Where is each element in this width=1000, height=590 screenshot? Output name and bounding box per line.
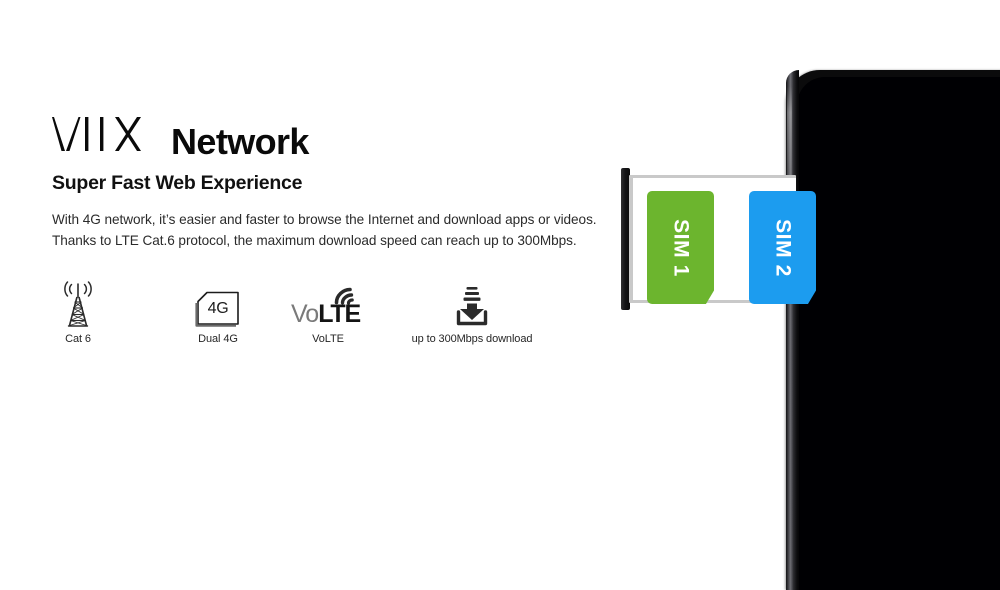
phone-device (786, 70, 1000, 590)
hero-content: Network Super Fast Web Experience With 4… (52, 112, 612, 252)
description-text: With 4G network, it’s easier and faster … (52, 210, 612, 251)
page-subtitle: Super Fast Web Experience (52, 172, 612, 194)
description-line-2: Thanks to LTE Cat.6 protocol, the maximu… (52, 231, 612, 252)
feature-label: Cat 6 (52, 333, 104, 345)
volte-wordmark: VoLTE (291, 302, 360, 327)
feature-item-dual4g: 4G Dual 4G (172, 282, 264, 345)
sim-card-2: SIM 2 (749, 191, 816, 304)
sim-card-2-label: SIM 2 (772, 219, 793, 277)
sim-card-1: SIM 1 (647, 191, 714, 304)
phone-side-edge (786, 70, 799, 590)
feature-item-download: up to 300Mbps download (356, 282, 588, 345)
sim-tray-inner: SIM 1 SIM 2 (633, 178, 796, 300)
volte-prefix: Vo (291, 300, 318, 328)
cell-tower-icon (52, 282, 104, 327)
feature-label: up to 300Mbps download (356, 333, 588, 345)
sim-tray-body: SIM 1 SIM 2 (629, 175, 796, 303)
phone-screen (797, 77, 1000, 590)
feature-item-cat6: Cat 6 (52, 282, 104, 345)
sim-card-1-label: SIM 1 (670, 219, 691, 277)
sim-4g-badge-text: 4G (195, 301, 241, 317)
sim-card-4g-icon: 4G (172, 282, 264, 327)
description-line-1: With 4G network, it’s easier and faster … (52, 210, 612, 231)
sim-tray: SIM 1 SIM 2 (621, 168, 796, 310)
title-word: Network (171, 124, 309, 160)
feature-list: Cat 6 4G Dual 4G (52, 282, 532, 357)
page-title: Network (52, 112, 612, 158)
volte-suffix: LTE (318, 300, 360, 328)
mix-wordmark-icon (52, 115, 157, 158)
feature-label: Dual 4G (172, 333, 264, 345)
download-arrow-icon (356, 282, 588, 327)
